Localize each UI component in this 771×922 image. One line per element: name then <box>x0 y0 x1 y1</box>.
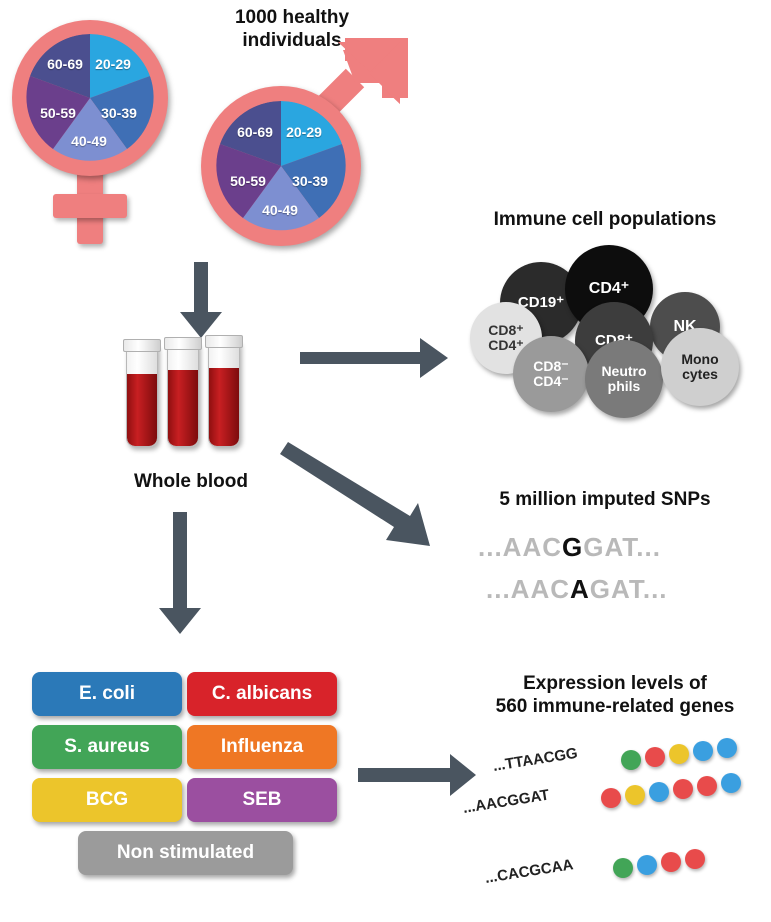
immune-cell-cd8-cd4-neg: CD8⁻ CD4⁻ <box>513 336 589 412</box>
blood-tube-2 <box>167 343 199 447</box>
immune-cell-neutrophils: Neutro phils <box>585 340 663 418</box>
female-age-label-40-49: 40-49 <box>62 133 116 149</box>
snp-line-1: ...AACGGAT... <box>478 532 661 563</box>
snp-line-1-suffix: GAT... <box>583 532 661 562</box>
stimulus-e-coli-label: E. coli <box>79 683 135 705</box>
stimulus-c-albicans[interactable]: C. albicans <box>187 672 337 716</box>
expression-bead-1-1 <box>621 750 641 770</box>
expression-sequence-3: ...CACGCAA <box>484 856 575 887</box>
expression-bead-1-3 <box>669 744 689 764</box>
blood-fill-2 <box>168 370 198 446</box>
male-age-label-50-59: 50-59 <box>221 173 275 189</box>
stimulus-seb[interactable]: SEB <box>187 778 337 822</box>
female-age-label-20-29: 20-29 <box>86 56 140 72</box>
male-age-label-20-29: 20-29 <box>277 124 331 140</box>
expression-title: Expression levels of 560 immune-related … <box>470 672 760 718</box>
blood-tubes <box>112 333 272 453</box>
immune-cell-monocytes-label: Mono cytes <box>681 352 718 381</box>
male-symbol: 20-29 30-39 40-49 50-59 60-69 <box>195 38 425 258</box>
snp-line-1-prefix: ...AAC <box>478 532 562 562</box>
expression-title-line2: 560 immune-related genes <box>470 695 760 718</box>
expression-bead-1-5 <box>717 738 737 758</box>
stimulus-e-coli[interactable]: E. coli <box>32 672 182 716</box>
snp-line-2: ...AACAGAT... <box>486 574 668 605</box>
immune-cell-cluster: CD19⁺ CD4⁺ NK CD8⁺ CD8⁺ CD4⁺ CD8⁻ CD4⁻ N… <box>465 240 755 415</box>
stimulus-s-aureus[interactable]: S. aureus <box>32 725 182 769</box>
blood-fill-1 <box>127 374 157 446</box>
immune-cell-neutrophils-label: Neutro phils <box>601 364 646 393</box>
female-age-label-30-39: 30-39 <box>92 105 146 121</box>
female-symbol: 20-29 30-39 40-49 50-59 60-69 <box>6 14 196 244</box>
stimulus-bcg-label: BCG <box>86 789 128 811</box>
stimuli-panel: E. coli C. albicans S. aureus Influenza … <box>28 672 338 892</box>
male-age-label-60-69: 60-69 <box>228 124 282 140</box>
stimulus-seb-label: SEB <box>242 789 281 811</box>
female-age-label-50-59: 50-59 <box>31 105 85 121</box>
cohort-title-line1: 1000 healthy <box>172 6 412 29</box>
stimulus-non-stimulated-label: Non stimulated <box>117 842 254 864</box>
male-age-label-40-49: 40-49 <box>253 202 307 218</box>
expression-bead-2-5 <box>697 776 717 796</box>
female-age-label-60-69: 60-69 <box>38 56 92 72</box>
blood-tube-cap-3 <box>205 335 243 348</box>
stimulus-influenza-label: Influenza <box>221 736 303 758</box>
blood-tube-3 <box>208 341 240 447</box>
expression-sequence-2: ...AACGGAT <box>462 786 551 816</box>
stimulus-non-stimulated[interactable]: Non stimulated <box>78 831 293 875</box>
blood-fill-3 <box>209 368 239 446</box>
stimulus-s-aureus-label: S. aureus <box>64 736 150 758</box>
stimulus-influenza[interactable]: Influenza <box>187 725 337 769</box>
female-symbol-crossbar <box>53 194 127 218</box>
expression-sequence-1: ...TTAACGG <box>492 745 579 775</box>
immune-cell-cd8-cd4-pos-label: CD8⁺ CD4⁺ <box>488 323 523 352</box>
snp-line-1-variant: G <box>562 532 583 562</box>
expression-bead-1-4 <box>693 741 713 761</box>
expression-bead-3-4 <box>685 849 705 869</box>
expression-title-line1: Expression levels of <box>470 672 760 695</box>
blood-tube-cap-1 <box>123 339 161 352</box>
immune-cell-cd4-label: CD4⁺ <box>589 281 629 298</box>
whole-blood-label: Whole blood <box>86 470 296 493</box>
snp-sequences: ...AACGGAT... ...AACAGAT... <box>478 522 748 622</box>
arrow-cohort-to-blood <box>178 262 224 340</box>
arrow-blood-to-immune <box>300 330 450 382</box>
expression-bead-2-4 <box>673 779 693 799</box>
expression-bead-2-1 <box>601 788 621 808</box>
expression-bead-2-3 <box>649 782 669 802</box>
expression-bead-3-3 <box>661 852 681 872</box>
expression-bead-2-6 <box>721 773 741 793</box>
expression-bead-2-2 <box>625 785 645 805</box>
arrow-blood-to-snps <box>280 440 445 550</box>
male-age-label-30-39: 30-39 <box>283 173 337 189</box>
expression-sequences: ...TTAACGG ...AACGGAT ...CACGCAA <box>455 740 765 900</box>
arrow-blood-to-stimuli <box>157 512 203 636</box>
snps-title: 5 million imputed SNPs <box>455 488 755 511</box>
stimulus-bcg[interactable]: BCG <box>32 778 182 822</box>
expression-bead-3-1 <box>613 858 633 878</box>
immune-cell-monocytes: Mono cytes <box>661 328 739 406</box>
immune-title: Immune cell populations <box>455 208 755 231</box>
expression-bead-3-2 <box>637 855 657 875</box>
snp-line-2-variant: A <box>570 574 590 604</box>
blood-tube-1 <box>126 345 158 447</box>
snp-line-2-prefix: ...AAC <box>486 574 570 604</box>
blood-tube-cap-2 <box>164 337 202 350</box>
immune-cell-cd8-cd4-neg-label: CD8⁻ CD4⁻ <box>533 359 568 388</box>
expression-bead-1-2 <box>645 747 665 767</box>
stimulus-c-albicans-label: C. albicans <box>212 683 312 705</box>
snp-line-2-suffix: GAT... <box>590 574 668 604</box>
